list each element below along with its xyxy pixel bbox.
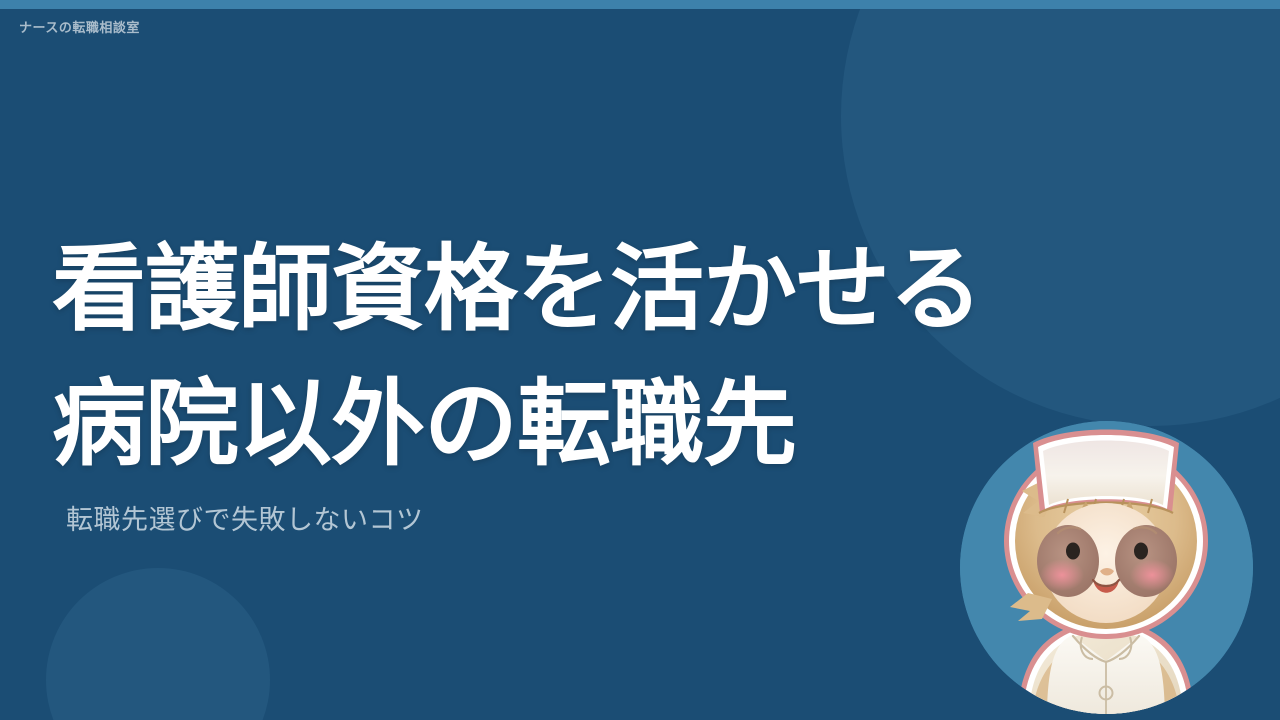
headline-line-2: 病院以外の転職先 [52, 357, 1012, 492]
headline-block: 看護師資格を活かせる 病院以外の転職先 [52, 222, 1012, 493]
top-accent-bar [0, 0, 1280, 9]
headline-line-1: 看護師資格を活かせる [52, 222, 1012, 357]
right-blush [1130, 559, 1174, 591]
left-blush [1040, 559, 1084, 591]
slide-canvas: ナースの転職相談室 看護師資格を活かせる 病院以外の転職先 転職先選びで失敗しな… [0, 0, 1280, 720]
decorative-circle-bottom-left [46, 568, 270, 720]
left-eye [1066, 543, 1080, 560]
nurse-cap-icon [1033, 430, 1179, 514]
site-label: ナースの転職相談室 [19, 22, 140, 35]
nurse-sloth-mascot-icon [960, 421, 1253, 714]
right-eye [1134, 543, 1148, 560]
avatar [960, 421, 1253, 714]
subtitle: 転職先選びで失敗しないコツ [66, 498, 424, 537]
